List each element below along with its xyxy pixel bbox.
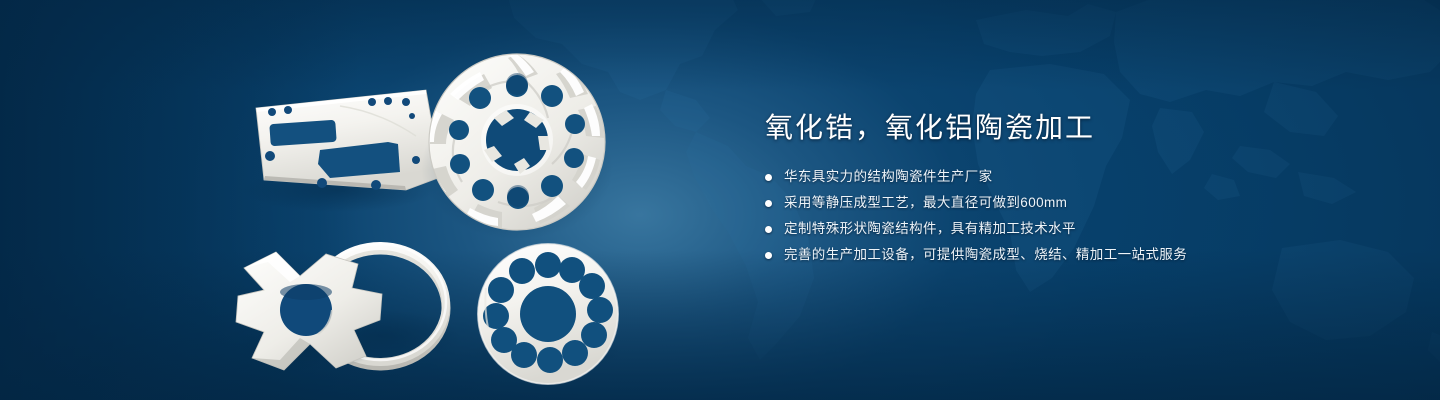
feature-item: 完善的生产加工设备，可提供陶瓷成型、烧结、精加工一站式服务 (765, 244, 1325, 266)
banner-copy: 氧化锆，氧化铝陶瓷加工 华东具实力的结构陶瓷件生产厂家 采用等静压成型工艺，最大… (765, 108, 1325, 270)
ceramic-cross-part (228, 252, 382, 370)
hero-banner: 氧化锆，氧化铝陶瓷加工 华东具实力的结构陶瓷件生产厂家 采用等静压成型工艺，最大… (0, 0, 1440, 400)
feature-item: 定制特殊形状陶瓷结构件，具有精加工技术水平 (765, 218, 1325, 240)
bullet-dot-icon (765, 226, 772, 233)
ceramic-impeller (421, 52, 613, 240)
feature-list: 华东具实力的结构陶瓷件生产厂家 采用等静压成型工艺，最大直径可做到600mm 定… (765, 166, 1325, 266)
ceramic-perforated-disc (474, 244, 622, 384)
feature-text: 华东具实力的结构陶瓷件生产厂家 (784, 166, 993, 188)
feature-item: 采用等静压成型工艺，最大直径可做到600mm (765, 192, 1325, 214)
feature-item: 华东具实力的结构陶瓷件生产厂家 (765, 166, 1325, 188)
product-collage (230, 40, 710, 380)
bullet-dot-icon (765, 174, 772, 181)
bullet-dot-icon (765, 200, 772, 207)
feature-text: 采用等静压成型工艺，最大直径可做到600mm (784, 192, 1067, 214)
feature-text: 完善的生产加工设备，可提供陶瓷成型、烧结、精加工一站式服务 (784, 244, 1187, 266)
banner-headline: 氧化锆，氧化铝陶瓷加工 (765, 108, 1325, 148)
bullet-dot-icon (765, 252, 772, 259)
feature-text: 定制特殊形状陶瓷结构件，具有精加工技术水平 (784, 218, 1076, 240)
ceramic-plate (242, 90, 438, 212)
